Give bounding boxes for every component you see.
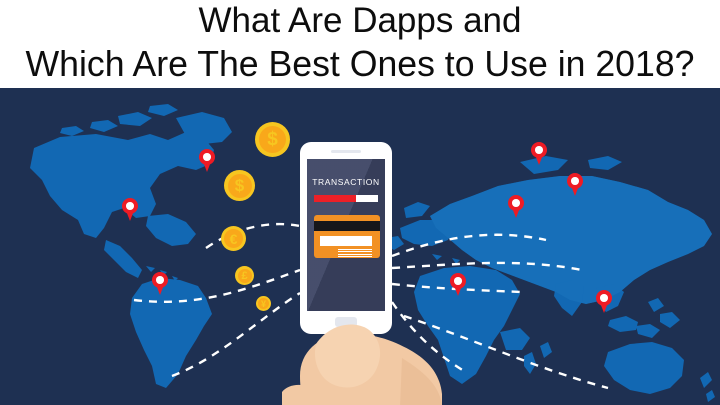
coin-dollar-large: $ [255,122,290,157]
transaction-progress-fill [314,195,356,202]
map-pin [567,173,583,196]
hand-holding-phone [282,288,502,405]
coin-euro: € [221,226,246,251]
coin-dollar-medium: $ [224,170,255,201]
page-title: What Are Dapps and Which Are The Best On… [0,0,720,88]
map-pin [199,149,215,172]
transaction-progress-bar [314,195,378,202]
page-title-line-2: Which Are The Best Ones to Use in 2018? [4,41,717,86]
coin-symbol: $ [259,126,286,153]
coin-yen: ¥ [256,296,271,311]
coin-pound: £ [235,266,254,285]
card-signature-strip [320,236,372,246]
coin-symbol: € [224,229,243,248]
map-pin [508,195,524,218]
map-pin [152,272,168,295]
card-magnetic-stripe [314,221,380,231]
coin-symbol: ¥ [258,298,269,309]
card-detail-lines [338,249,372,256]
page-root: What Are Dapps and Which Are The Best On… [0,0,720,405]
credit-card [314,215,380,258]
page-title-line-1: What Are Dapps and [0,0,720,43]
coin-symbol: £ [238,269,252,283]
map-pin [596,290,612,313]
map-pin [531,142,547,165]
hero-illustration: $ $ € £ ¥ TRANSACTION [0,88,720,405]
coin-symbol: $ [228,174,252,198]
map-pin [122,198,138,221]
transaction-label: TRANSACTION [307,177,385,187]
phone-speaker [331,150,361,153]
